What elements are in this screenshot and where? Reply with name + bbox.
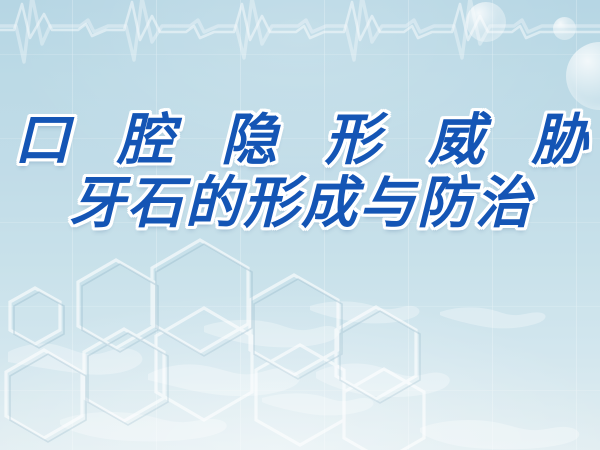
bubble-large-upper (466, 2, 506, 42)
bubble-large-right (566, 42, 600, 110)
bubble-small (553, 17, 576, 40)
slide-canvas: 口 腔 隐 形 威 胁 牙石的形成与防治 (0, 0, 600, 450)
slide-title: 口 腔 隐 形 威 胁 牙石的形成与防治 (0, 112, 600, 232)
title-line-secondary: 牙石的形成与防治 (0, 175, 600, 232)
title-line-primary: 口 腔 隐 形 威 胁 (0, 112, 600, 169)
